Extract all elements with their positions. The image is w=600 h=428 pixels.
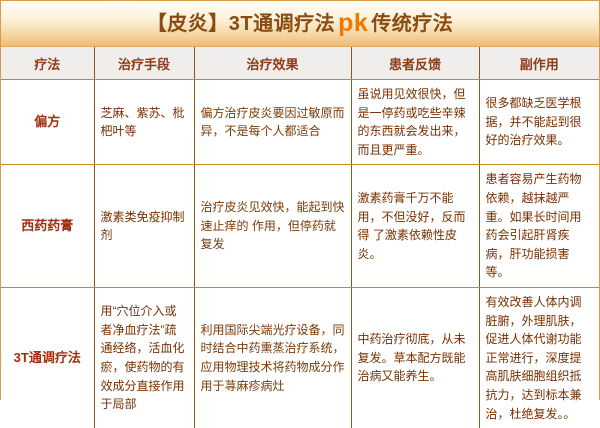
cell-therapy-name: 3T通调疗法 — [1, 287, 94, 428]
cell-side-effect: 有效改善人体内调脏腑，外理肌肤，促进人体代谢功能正常进行，深度提高肌肤细胞组织抵… — [479, 287, 599, 428]
page-title: 【皮炎】3T通调疗法pk传统疗法 — [147, 11, 454, 36]
table-header: 疗法 治疗手段 治疗效果 患者反馈 副作用 — [1, 47, 599, 80]
cell-therapy-name: 西药药膏 — [1, 165, 94, 288]
cell-feedback: 激素药膏千万不能用，不但没好，反而得 了激素依赖性皮炎。 — [351, 165, 479, 288]
cell-method: 激素类免疫抑制剂 — [94, 165, 194, 288]
column-header-effect: 治疗效果 — [194, 47, 351, 80]
column-header-therapy: 疗法 — [1, 47, 94, 80]
cell-feedback: 中药治疗彻底，从未复发。草本配方既能治病又能养生。 — [351, 287, 479, 428]
therapy-comparison-table: 【皮炎】3T通调疗法pk传统疗法 疗法 治疗手段 治疗效果 患者反馈 副作用 偏… — [0, 0, 600, 400]
column-header-feedback: 患者反馈 — [351, 47, 479, 80]
table-header-row: 疗法 治疗手段 治疗效果 患者反馈 副作用 — [1, 47, 599, 80]
title-suffix: 传统疗法 — [371, 13, 453, 35]
cell-feedback: 虽说用见效很快，但是一停药或吃些辛辣的东西就会发出来，而且更严重。 — [351, 80, 479, 165]
column-header-method: 治疗手段 — [94, 47, 194, 80]
cell-side-effect: 患者容易产生药物依赖，越抹越严重。如果长时间用药会引起肝肾疾病，肝功能损害等。 — [479, 165, 599, 288]
title-prefix: 【皮炎】3T通调疗法 — [147, 13, 335, 35]
title-pk-label: pk — [335, 9, 371, 37]
table-row: 西药药膏 激素类免疫抑制剂 治疗皮炎见效快，能起到快速止痒的 作用，但停药就复发… — [1, 165, 599, 288]
column-header-side-effect: 副作用 — [479, 47, 599, 80]
cell-method: 芝麻、紫苏、枇杷叶等 — [94, 80, 194, 165]
cell-effect: 治疗皮炎见效快，能起到快速止痒的 作用，但停药就复发 — [194, 165, 351, 288]
table-row: 偏方 芝麻、紫苏、枇杷叶等 偏方治疗皮炎要因过敏原而异，不是每个人都适合 虽说用… — [1, 80, 599, 165]
cell-side-effect: 很多都缺乏医学根据，并不能起到很好的治疗效果。 — [479, 80, 599, 165]
table-body: 偏方 芝麻、紫苏、枇杷叶等 偏方治疗皮炎要因过敏原而异，不是每个人都适合 虽说用… — [1, 80, 599, 428]
cell-method: 用“穴位介入或者净血疗法”疏通经络，活血化瘀，使药物的有效成分直接作用于局部 — [94, 287, 194, 428]
cell-effect: 利用国际尖端光疗设备，同时结合中药熏蒸治疗系统，应用物理技术将药物成分作用于荨麻… — [194, 287, 351, 428]
table-row: 3T通调疗法 用“穴位介入或者净血疗法”疏通经络，活血化瘀，使药物的有效成分直接… — [1, 287, 599, 428]
comparison-grid: 疗法 治疗手段 治疗效果 患者反馈 副作用 偏方 芝麻、紫苏、枇杷叶等 偏方治疗… — [1, 47, 599, 428]
cell-therapy-name: 偏方 — [1, 80, 94, 165]
cell-effect: 偏方治疗皮炎要因过敏原而异，不是每个人都适合 — [194, 80, 351, 165]
title-banner: 【皮炎】3T通调疗法pk传统疗法 — [1, 1, 599, 47]
